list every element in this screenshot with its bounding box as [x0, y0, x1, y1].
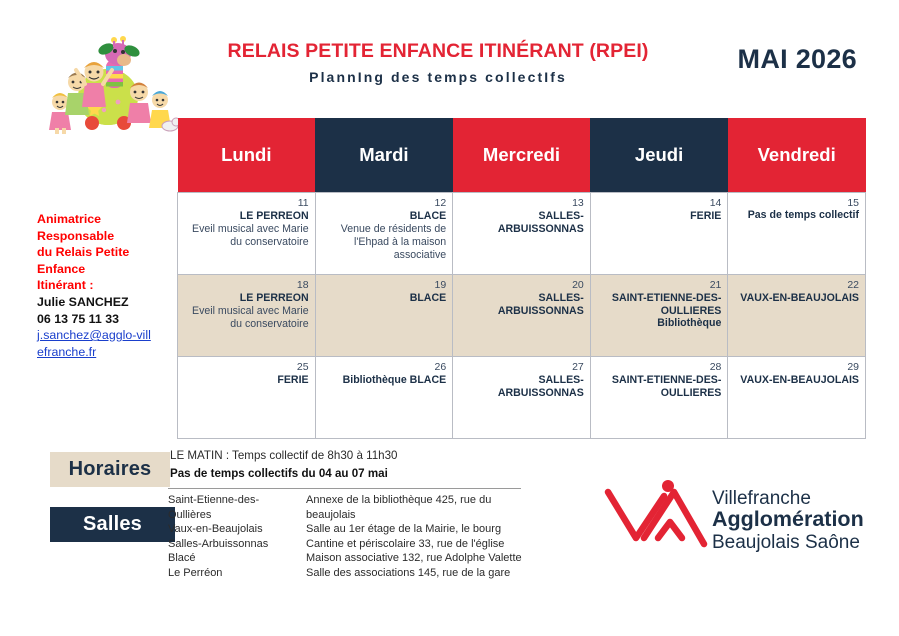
salles-row: Salles-ArbuissonnasCantine et périscolai… — [168, 537, 529, 552]
salles-commune: Salles-Arbuissonnas — [168, 537, 306, 552]
calendar-day-cell[interactable]: 13SALLES-ARBUISSONNAS — [453, 193, 591, 275]
calendar-day-cell[interactable]: 26Bibliothèque BLACE — [315, 357, 453, 439]
calendar-table: Lundi Mardi Mercredi Jeudi Vendredi 11LE… — [177, 118, 866, 439]
calendar-day-cell[interactable]: 15Pas de temps collectif — [728, 193, 866, 275]
page-title: RELAIS PETITE ENFANCE ITINÉRANT (RPEI) — [178, 40, 698, 62]
day-place: SAINT-ETIENNE-DES-OULLIERES — [597, 292, 722, 317]
day-note: Bibliothèque — [597, 317, 722, 330]
day-header-jeudi: Jeudi — [590, 118, 728, 193]
day-number: 14 — [597, 197, 722, 209]
day-number: 18 — [184, 279, 309, 291]
day-header-mardi: Mardi — [315, 118, 453, 193]
page-subtitle: PlannIng des temps collectIfs — [178, 69, 698, 85]
salles-table-body: Saint-Etienne-des-OullièresAnnexe de la … — [168, 493, 529, 581]
salles-row: Saint-Etienne-des-OullièresAnnexe de la … — [168, 493, 529, 522]
day-place: Bibliothèque BLACE — [322, 374, 447, 387]
salles-row: Le PerréonSalle des associations 145, ru… — [168, 566, 529, 581]
logo-line-1: Villefranche — [712, 488, 811, 509]
day-number: 12 — [322, 197, 447, 209]
calendar-day-cell[interactable]: 12BLACEVenue de résidents de l'Ehpad à l… — [315, 193, 453, 275]
villefranche-va-monogram-icon — [608, 492, 704, 544]
day-place: FERIE — [184, 374, 309, 387]
day-number: 27 — [459, 361, 584, 373]
calendar-body: 11LE PERREONEveil musical avec Marie du … — [178, 193, 866, 439]
day-number: 26 — [322, 361, 447, 373]
salles-table-wrapper: Saint-Etienne-des-OullièresAnnexe de la … — [168, 488, 521, 581]
horaires-line-1: LE MATIN : Temps collectif de 8h30 à 11h… — [170, 448, 500, 464]
day-note: Venue de résidents de l'Ehpad à la maiso… — [322, 223, 447, 263]
salles-address: Salle des associations 145, rue de la ga… — [306, 566, 529, 581]
day-place: SAINT-ETIENNE-DES-OULLIERES — [597, 374, 722, 399]
title-block: RELAIS PETITE ENFANCE ITINÉRANT (RPEI) P… — [178, 40, 698, 86]
day-place: SALLES-ARBUISSONNAS — [459, 292, 584, 317]
calendar-day-cell[interactable]: 14FERIE — [590, 193, 728, 275]
role-line-2: Responsable — [37, 228, 155, 245]
salles-badge: Salles — [50, 507, 175, 542]
calendar-day-cell[interactable]: 25FERIE — [178, 357, 316, 439]
calendar-day-cell[interactable]: 19BLACE — [315, 275, 453, 357]
calendar-day-cell[interactable]: 11LE PERREONEveil musical avec Marie du … — [178, 193, 316, 275]
contact-phone: 06 13 75 11 33 — [37, 311, 155, 328]
calendar-day-cell[interactable]: 22VAUX-EN-BEAUJOLAIS — [728, 275, 866, 357]
salles-row: Vaux-en-BeaujolaisSalle au 1er étage de … — [168, 522, 529, 537]
day-number: 25 — [184, 361, 309, 373]
calendar-day-cell[interactable]: 28SAINT-ETIENNE-DES-OULLIERES — [590, 357, 728, 439]
day-number: 21 — [597, 279, 722, 291]
day-place: FERIE — [597, 210, 722, 223]
calendar-day-cell[interactable]: 29VAUX-EN-BEAUJOLAIS — [728, 357, 866, 439]
role-line-1: Animatrice — [37, 211, 155, 228]
logo-line-2: Agglomération — [712, 507, 864, 531]
day-number: 22 — [734, 279, 859, 291]
day-header-lundi: Lundi — [178, 118, 316, 193]
salles-address: Annexe de la bibliothèque 425, rue du be… — [306, 493, 529, 522]
salles-row: BlacéMaison associative 132, rue Adolphe… — [168, 551, 529, 566]
day-number: 13 — [459, 197, 584, 209]
calendar-day-cell[interactable]: 21SAINT-ETIENNE-DES-OULLIERESBibliothèqu… — [590, 275, 728, 357]
salles-divider — [168, 488, 521, 489]
salles-commune: Vaux-en-Beaujolais — [168, 522, 306, 537]
poster-page: RELAIS PETITE ENFANCE ITINÉRANT (RPEI) P… — [0, 0, 899, 636]
horaires-line-2: Pas de temps collectifs du 04 au 07 mai — [170, 466, 500, 482]
day-place: SALLES-ARBUISSONNAS — [459, 374, 584, 399]
contact-name: Julie SANCHEZ — [37, 294, 155, 311]
day-header-vendredi: Vendredi — [728, 118, 866, 193]
salles-commune: Blacé — [168, 551, 306, 566]
salles-table: Saint-Etienne-des-OullièresAnnexe de la … — [168, 493, 529, 581]
day-place: VAUX-EN-BEAUJOLAIS — [734, 374, 859, 387]
calendar-week-row: 25FERIE26Bibliothèque BLACE27SALLES-ARBU… — [178, 357, 866, 439]
children-giraffe-illustration — [32, 24, 178, 134]
calendar-header-row: Lundi Mardi Mercredi Jeudi Vendredi — [178, 118, 866, 193]
day-number: 20 — [459, 279, 584, 291]
role-line-5: Itinérant : — [37, 277, 155, 294]
day-note: Eveil musical avec Marie du conservatoir… — [184, 305, 309, 331]
calendar-week-row: 11LE PERREONEveil musical avec Marie du … — [178, 193, 866, 275]
day-note: Pas de temps collectif — [734, 209, 859, 222]
role-line-4: Enfance — [37, 261, 155, 278]
calendar-day-cell[interactable]: 18LE PERREONEveil musical avec Marie du … — [178, 275, 316, 357]
day-header-mercredi: Mercredi — [453, 118, 591, 193]
day-number: 11 — [184, 197, 309, 209]
logo-line-3: Beaujolais Saône — [712, 532, 860, 553]
salles-address: Cantine et périscolaire 33, rue de l'égl… — [306, 537, 529, 552]
calendar-day-cell[interactable]: 20SALLES-ARBUISSONNAS — [453, 275, 591, 357]
contact-sidebar: Animatrice Responsable du Relais Petite … — [37, 211, 155, 360]
day-place: BLACE — [322, 292, 447, 305]
day-number: 28 — [597, 361, 722, 373]
salles-address: Salle au 1er étage de la Mairie, le bour… — [306, 522, 529, 537]
salles-address: Maison associative 132, rue Adolphe Vale… — [306, 551, 529, 566]
salles-commune: Saint-Etienne-des-Oullières — [168, 493, 306, 522]
day-place: LE PERREON — [184, 292, 309, 305]
day-number: 19 — [322, 279, 447, 291]
month-label: MAI 2026 — [738, 44, 857, 75]
calendar-day-cell[interactable]: 27SALLES-ARBUISSONNAS — [453, 357, 591, 439]
calendar: Lundi Mardi Mercredi Jeudi Vendredi 11LE… — [177, 118, 866, 439]
horaires-text: LE MATIN : Temps collectif de 8h30 à 11h… — [170, 448, 500, 482]
day-place: LE PERREON — [184, 210, 309, 223]
role-line-3: du Relais Petite — [37, 244, 155, 261]
salles-commune: Le Perréon — [168, 566, 306, 581]
day-note: Eveil musical avec Marie du conservatoir… — [184, 223, 309, 249]
day-number: 29 — [734, 361, 859, 373]
day-place: SALLES-ARBUISSONNAS — [459, 210, 584, 235]
calendar-week-row: 18LE PERREONEveil musical avec Marie du … — [178, 275, 866, 357]
day-place: VAUX-EN-BEAUJOLAIS — [734, 292, 859, 305]
day-place: BLACE — [322, 210, 447, 223]
day-number: 15 — [734, 197, 859, 209]
contact-email-link[interactable]: j.sanchez@agglo-villefranche.fr — [37, 327, 155, 360]
villefranche-agglomeration-logo: Villefranche Agglomération Beaujolais Sa… — [600, 478, 880, 556]
horaires-badge: Horaires — [50, 452, 170, 487]
